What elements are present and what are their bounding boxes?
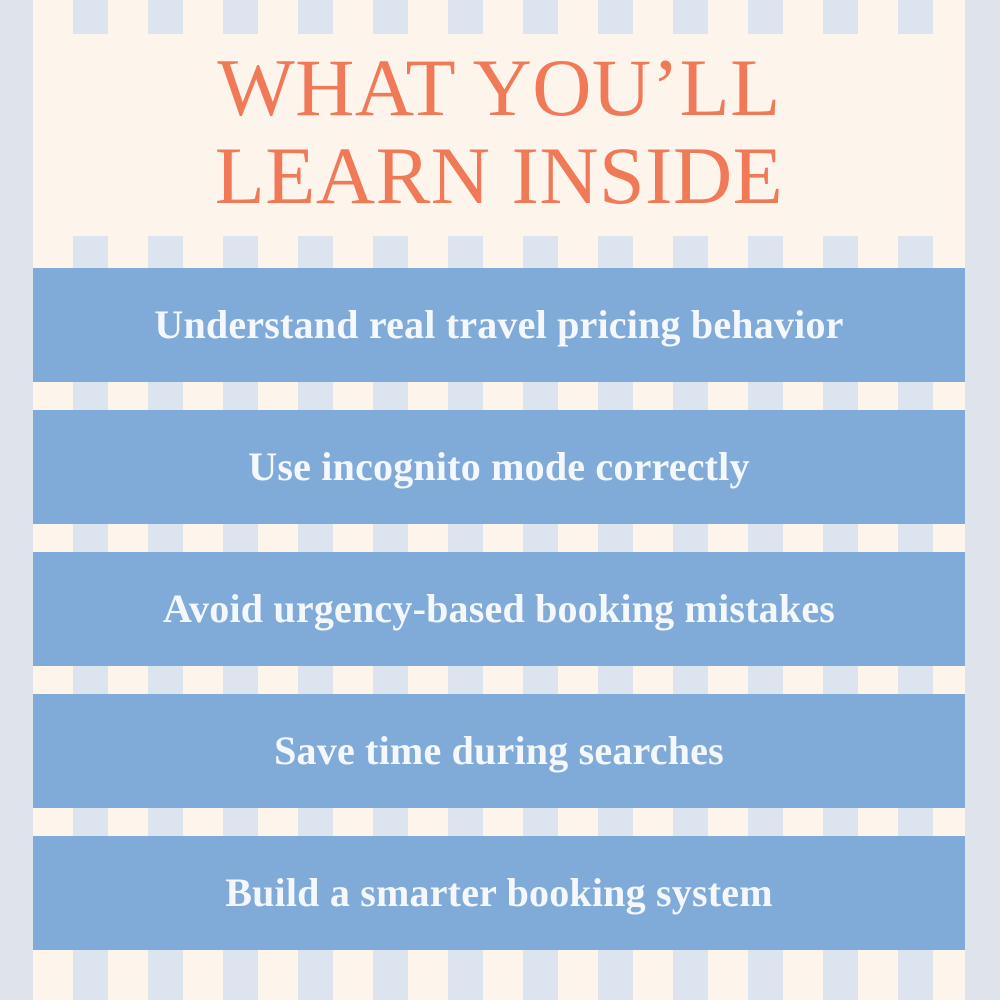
- list-item-label: Save time during searches: [274, 727, 724, 775]
- list-item: Save time during searches: [33, 694, 965, 808]
- list-item: Understand real travel pricing behavior: [33, 268, 965, 382]
- page-title-line-1: WHAT YOU’LL: [33, 44, 965, 132]
- page-title-line-2: LEARN INSIDE: [33, 132, 965, 220]
- poster-canvas: WHAT YOU’LL LEARN INSIDE Understand real…: [0, 0, 1000, 1000]
- list-item-label: Understand real travel pricing behavior: [154, 301, 843, 349]
- list-item-label: Avoid urgency-based booking mistakes: [163, 585, 835, 633]
- list-item: Avoid urgency-based booking mistakes: [33, 552, 965, 666]
- list-item-label: Use incognito mode correctly: [248, 443, 749, 491]
- list-item: Use incognito mode correctly: [33, 410, 965, 524]
- list-item-label: Build a smarter booking system: [225, 869, 773, 917]
- page-title: WHAT YOU’LL LEARN INSIDE: [33, 44, 965, 220]
- list-item: Build a smarter booking system: [33, 836, 965, 950]
